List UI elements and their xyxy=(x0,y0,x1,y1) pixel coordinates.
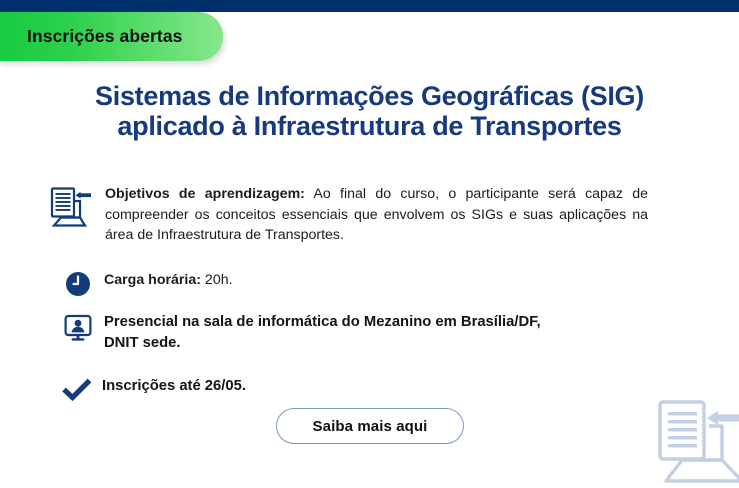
page-title-line-1: Sistemas de Informações Geográficas (SIG… xyxy=(0,81,739,111)
laptop-document-pencil-watermark-icon xyxy=(652,396,739,488)
location-text: Presencial na sala de informática do Mez… xyxy=(94,312,648,354)
location-text-line-1: Presencial na sala de informática do Mez… xyxy=(104,314,541,330)
workload-value: 20h. xyxy=(201,272,233,288)
learn-more-button[interactable]: Saiba mais aqui xyxy=(276,408,464,444)
location-text-line-2: DNIT sede. xyxy=(104,333,648,354)
detail-row-workload: Carga horária: 20h. xyxy=(62,270,622,297)
deadline-text: Inscrições até 26/05. xyxy=(94,376,460,396)
enrollment-status-banner: Inscrições abertas xyxy=(0,12,223,61)
workload-label: Carga horária: xyxy=(104,272,201,288)
person-screen-icon xyxy=(62,312,94,342)
detail-row-learning-objectives: Objetivos de aprendizagem: Ao final do c… xyxy=(48,184,648,246)
learn-more-button-label: Saiba mais aqui xyxy=(313,418,428,435)
check-icon xyxy=(60,376,94,402)
clock-icon xyxy=(62,270,94,297)
workload-text: Carga horária: 20h. xyxy=(94,270,622,290)
top-navy-bar xyxy=(0,0,739,12)
detail-row-location: Presencial na sala de informática do Mez… xyxy=(62,312,648,354)
banner-label: Inscrições abertas xyxy=(27,26,183,47)
detail-row-deadline: Inscrições até 26/05. xyxy=(60,376,460,402)
laptop-document-pencil-icon xyxy=(48,184,94,228)
page-title-line-2: aplicado à Infraestrutura de Transportes xyxy=(0,111,739,141)
learning-objectives-text: Objetivos de aprendizagem: Ao final do c… xyxy=(94,184,648,246)
learning-objectives-label: Objetivos de aprendizagem: xyxy=(105,186,305,202)
page-title: Sistemas de Informações Geográficas (SIG… xyxy=(0,81,739,141)
